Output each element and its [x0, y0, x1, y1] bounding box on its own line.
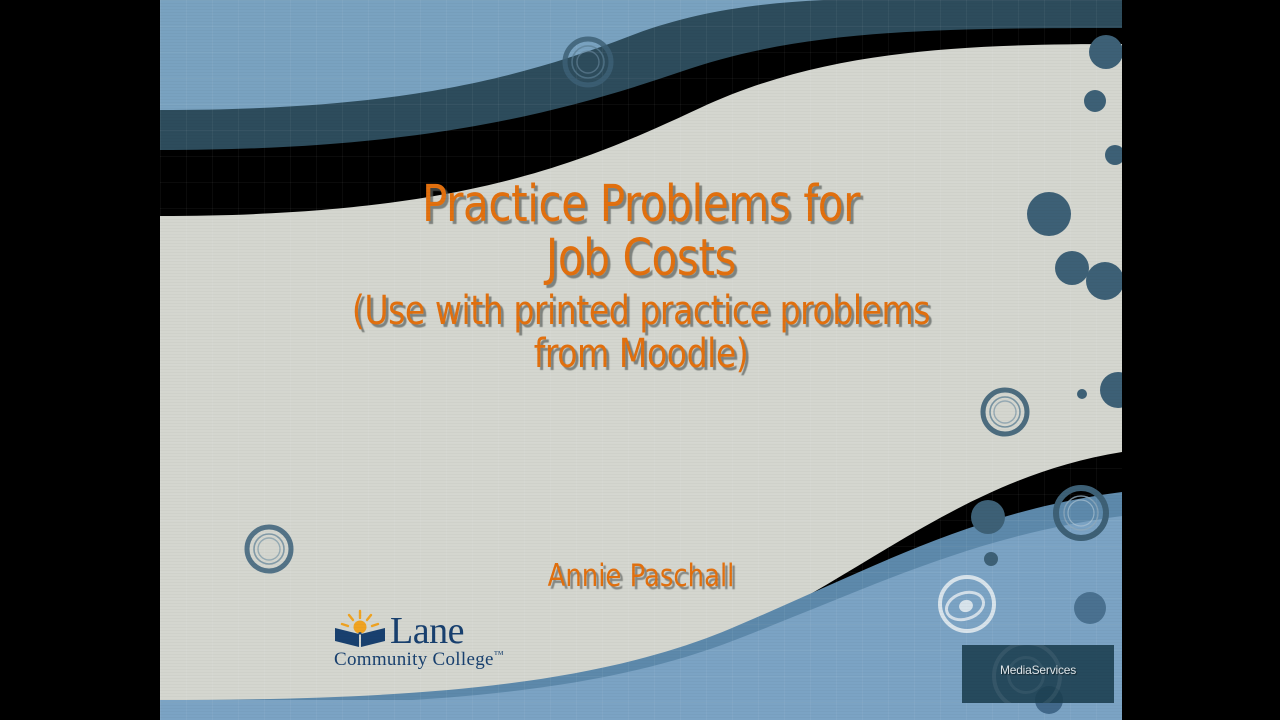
media-services-label: MediaServices: [962, 663, 1114, 677]
slide-subtitle-line-1: (Use with printed practice problems: [198, 290, 1083, 333]
lane-subwordmark: Community College™: [334, 649, 532, 671]
lane-community-college-logo: Lane Community College™: [332, 608, 532, 671]
slide-title-line-2: Job Costs: [198, 232, 1083, 286]
letterbox-right: [1122, 0, 1280, 720]
title-text-block: Practice Problems for Job Costs (Use wit…: [160, 178, 1122, 376]
lane-trademark-icon: ™: [494, 650, 504, 661]
slide-subtitle-line-2: from Moodle): [198, 333, 1083, 376]
lane-subwordmark-text: Community College: [334, 649, 494, 670]
slide-title-line-1: Practice Problems for: [198, 178, 1083, 232]
video-frame: Practice Problems for Job Costs (Use wit…: [0, 0, 1280, 720]
letterbox-left: [0, 0, 160, 720]
open-book-sunrise-icon: [332, 608, 388, 648]
slide-author: Annie Paschall: [194, 558, 1089, 594]
lane-logo-row: Lane: [332, 608, 532, 648]
presentation-slide: Practice Problems for Job Costs (Use wit…: [160, 0, 1122, 720]
lane-wordmark: Lane: [390, 615, 464, 648]
media-services-watermark: MediaServices: [962, 645, 1114, 703]
